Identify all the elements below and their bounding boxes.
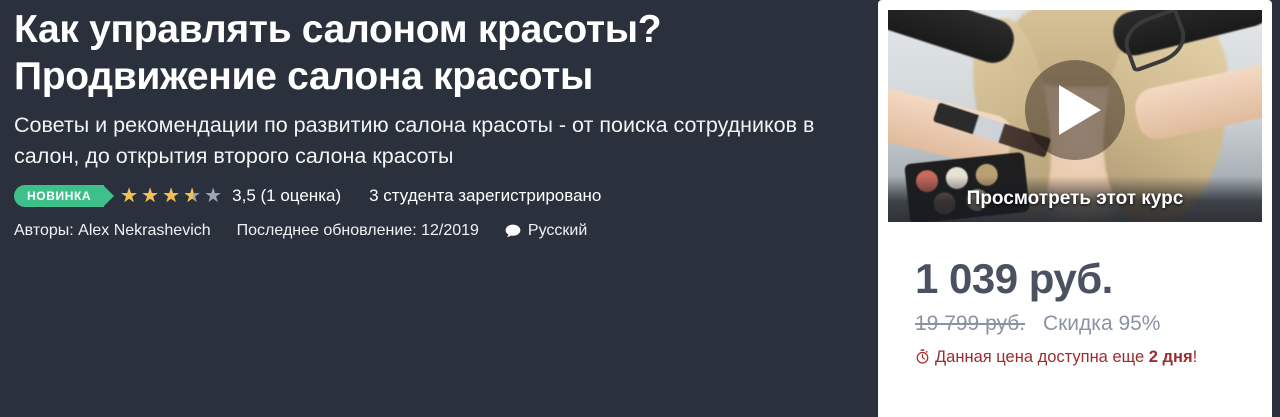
page-title: Как управлять салоном красоты? Продвижен… [14,6,836,100]
star-5: ★★ [204,186,224,206]
course-meta-row: НОВИНКА ★★ ★★ ★★ ★★ ★★ 3,5 (1 оценка) [14,184,836,208]
status-badge-new: НОВИНКА [14,185,104,207]
price-discount-row: 19 799 руб. Скидка 95% [915,311,1262,337]
star-1: ★★ [120,186,140,206]
course-preview-video[interactable]: Просмотреть этот курс [888,10,1262,222]
course-language-label: Русский [528,222,587,240]
purchase-card: Просмотреть этот курс 1 039 руб. 19 799 … [878,0,1272,417]
star-4: ★★ [183,186,203,206]
star-3: ★★ [162,186,182,206]
discount-percent: Скидка 95% [1043,312,1161,335]
price-expiry-highlight: 2 дня [1149,348,1193,366]
price-block: 1 039 руб. 19 799 руб. Скидка 95% Данная… [888,222,1262,369]
course-info-panel: Как управлять салоном красоты? Продвижен… [0,0,866,417]
price-expiry-notice: Данная цена доступна еще 2 дня! [915,346,1207,369]
speech-bubble-icon [505,224,521,238]
course-last-updated: Последнее обновление: 12/2019 [237,222,479,240]
price-expiry-prefix: Данная цена доступна еще [935,348,1149,366]
course-language: Русский [505,222,587,240]
preview-caption[interactable]: Просмотреть этот курс [888,176,1262,222]
price-expiry-suffix: ! [1193,348,1198,366]
play-icon[interactable] [1025,60,1125,160]
rating-stars[interactable]: ★★ ★★ ★★ ★★ ★★ [120,186,224,206]
current-price: 1 039 руб. [915,256,1262,302]
course-landing-header: Как управлять салоном красоты? Продвижен… [0,0,1280,417]
course-headline: Советы и рекомендации по развитию салона… [14,110,829,172]
course-authors[interactable]: Авторы: Alex Nekrashevich [14,222,211,240]
stopwatch-icon [915,349,930,364]
course-authors-row: Авторы: Alex Nekrashevich Последнее обно… [14,222,836,240]
rating-text[interactable]: 3,5 (1 оценка) [232,186,341,206]
original-price: 19 799 руб. [915,312,1025,335]
star-2: ★★ [141,186,161,206]
students-enrolled-count: 3 студента зарегистрировано [369,186,601,206]
